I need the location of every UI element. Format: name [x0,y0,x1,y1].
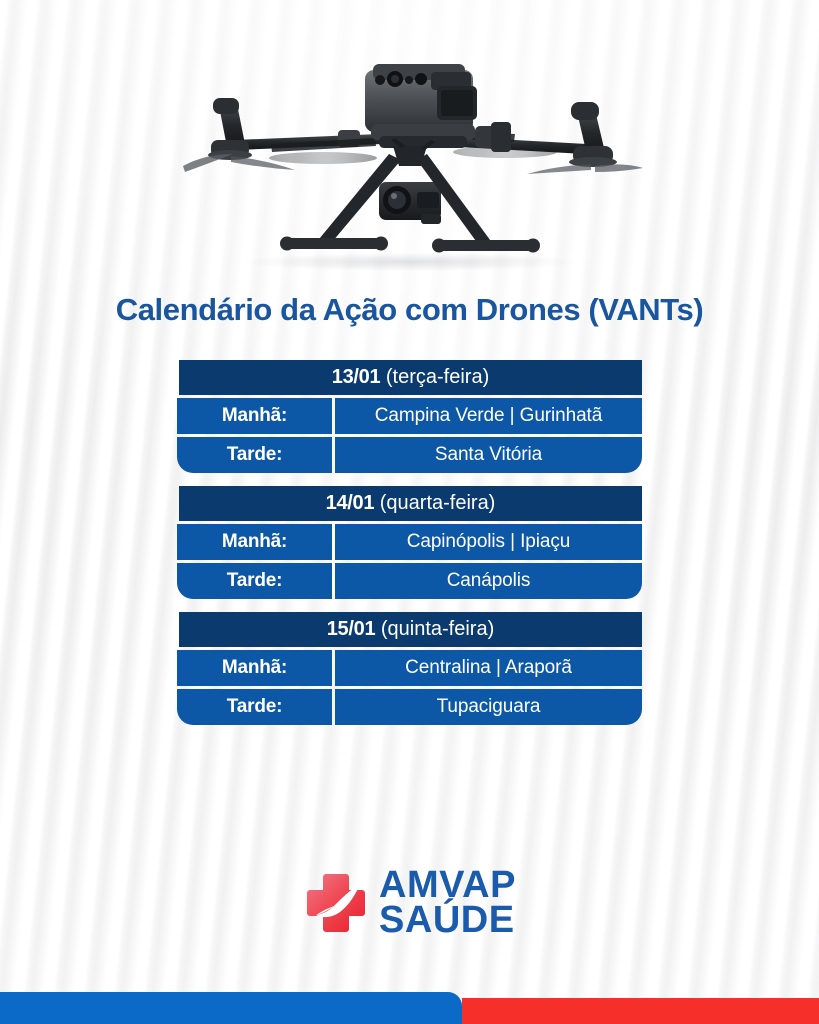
table-row: Tarde: Canápolis [177,563,642,599]
poster-canvas: Calendário da Ação com Drones (VANTs) 13… [0,0,819,1024]
day-date: 13/01 [332,366,381,388]
period-label: Tarde: [177,437,332,473]
period-cities: Tupaciguara [335,689,642,725]
period-label: Manhã: [177,650,332,686]
period-cities: Centralina | Araporã [335,650,642,686]
day-weekday: (quarta-feira) [380,492,496,514]
amvap-saude-logo: AMVAP SAÚDE [0,868,819,938]
day-date: 14/01 [326,492,375,514]
drone-photo [0,48,819,278]
logo-line-1: AMVAP [379,868,516,903]
day-weekday: (quinta-feira) [381,618,494,640]
period-cities: Capinópolis | Ipiaçu [335,524,642,560]
logo-wordmark: AMVAP SAÚDE [379,868,516,938]
table-row: Manhã: Campina Verde | Gurinhatã [177,398,642,434]
period-label: Manhã: [177,524,332,560]
footer-bar-blue [0,992,462,1024]
day-header: 15/01 (quinta-feira) [179,612,642,647]
table-row: Tarde: Tupaciguara [177,689,642,725]
medical-cross-hand-icon [303,870,369,936]
drone-illustration [175,48,645,278]
drone-shadow [245,253,575,271]
period-cities: Santa Vitória [335,437,642,473]
day-weekday: (terça-feira) [386,366,489,388]
day-block: 13/01 (terça-feira) Manhã: Campina Verde… [177,360,642,473]
period-label: Tarde: [177,563,332,599]
period-label: Manhã: [177,398,332,434]
table-row: Manhã: Centralina | Araporã [177,650,642,686]
page-title: Calendário da Ação com Drones (VANTs) [0,292,819,328]
day-block: 15/01 (quinta-feira) Manhã: Centralina |… [177,612,642,725]
period-cities: Campina Verde | Gurinhatã [335,398,642,434]
day-block: 14/01 (quarta-feira) Manhã: Capinópolis … [177,486,642,599]
schedule-table: 13/01 (terça-feira) Manhã: Campina Verde… [177,360,642,725]
day-header: 13/01 (terça-feira) [179,360,642,395]
table-row: Manhã: Capinópolis | Ipiaçu [177,524,642,560]
period-label: Tarde: [177,689,332,725]
period-cities: Canápolis [335,563,642,599]
table-row: Tarde: Santa Vitória [177,437,642,473]
day-header: 14/01 (quarta-feira) [179,486,642,521]
logo-line-2: SAÚDE [379,903,516,938]
footer-bar-red [462,998,819,1024]
day-date: 15/01 [327,618,376,640]
